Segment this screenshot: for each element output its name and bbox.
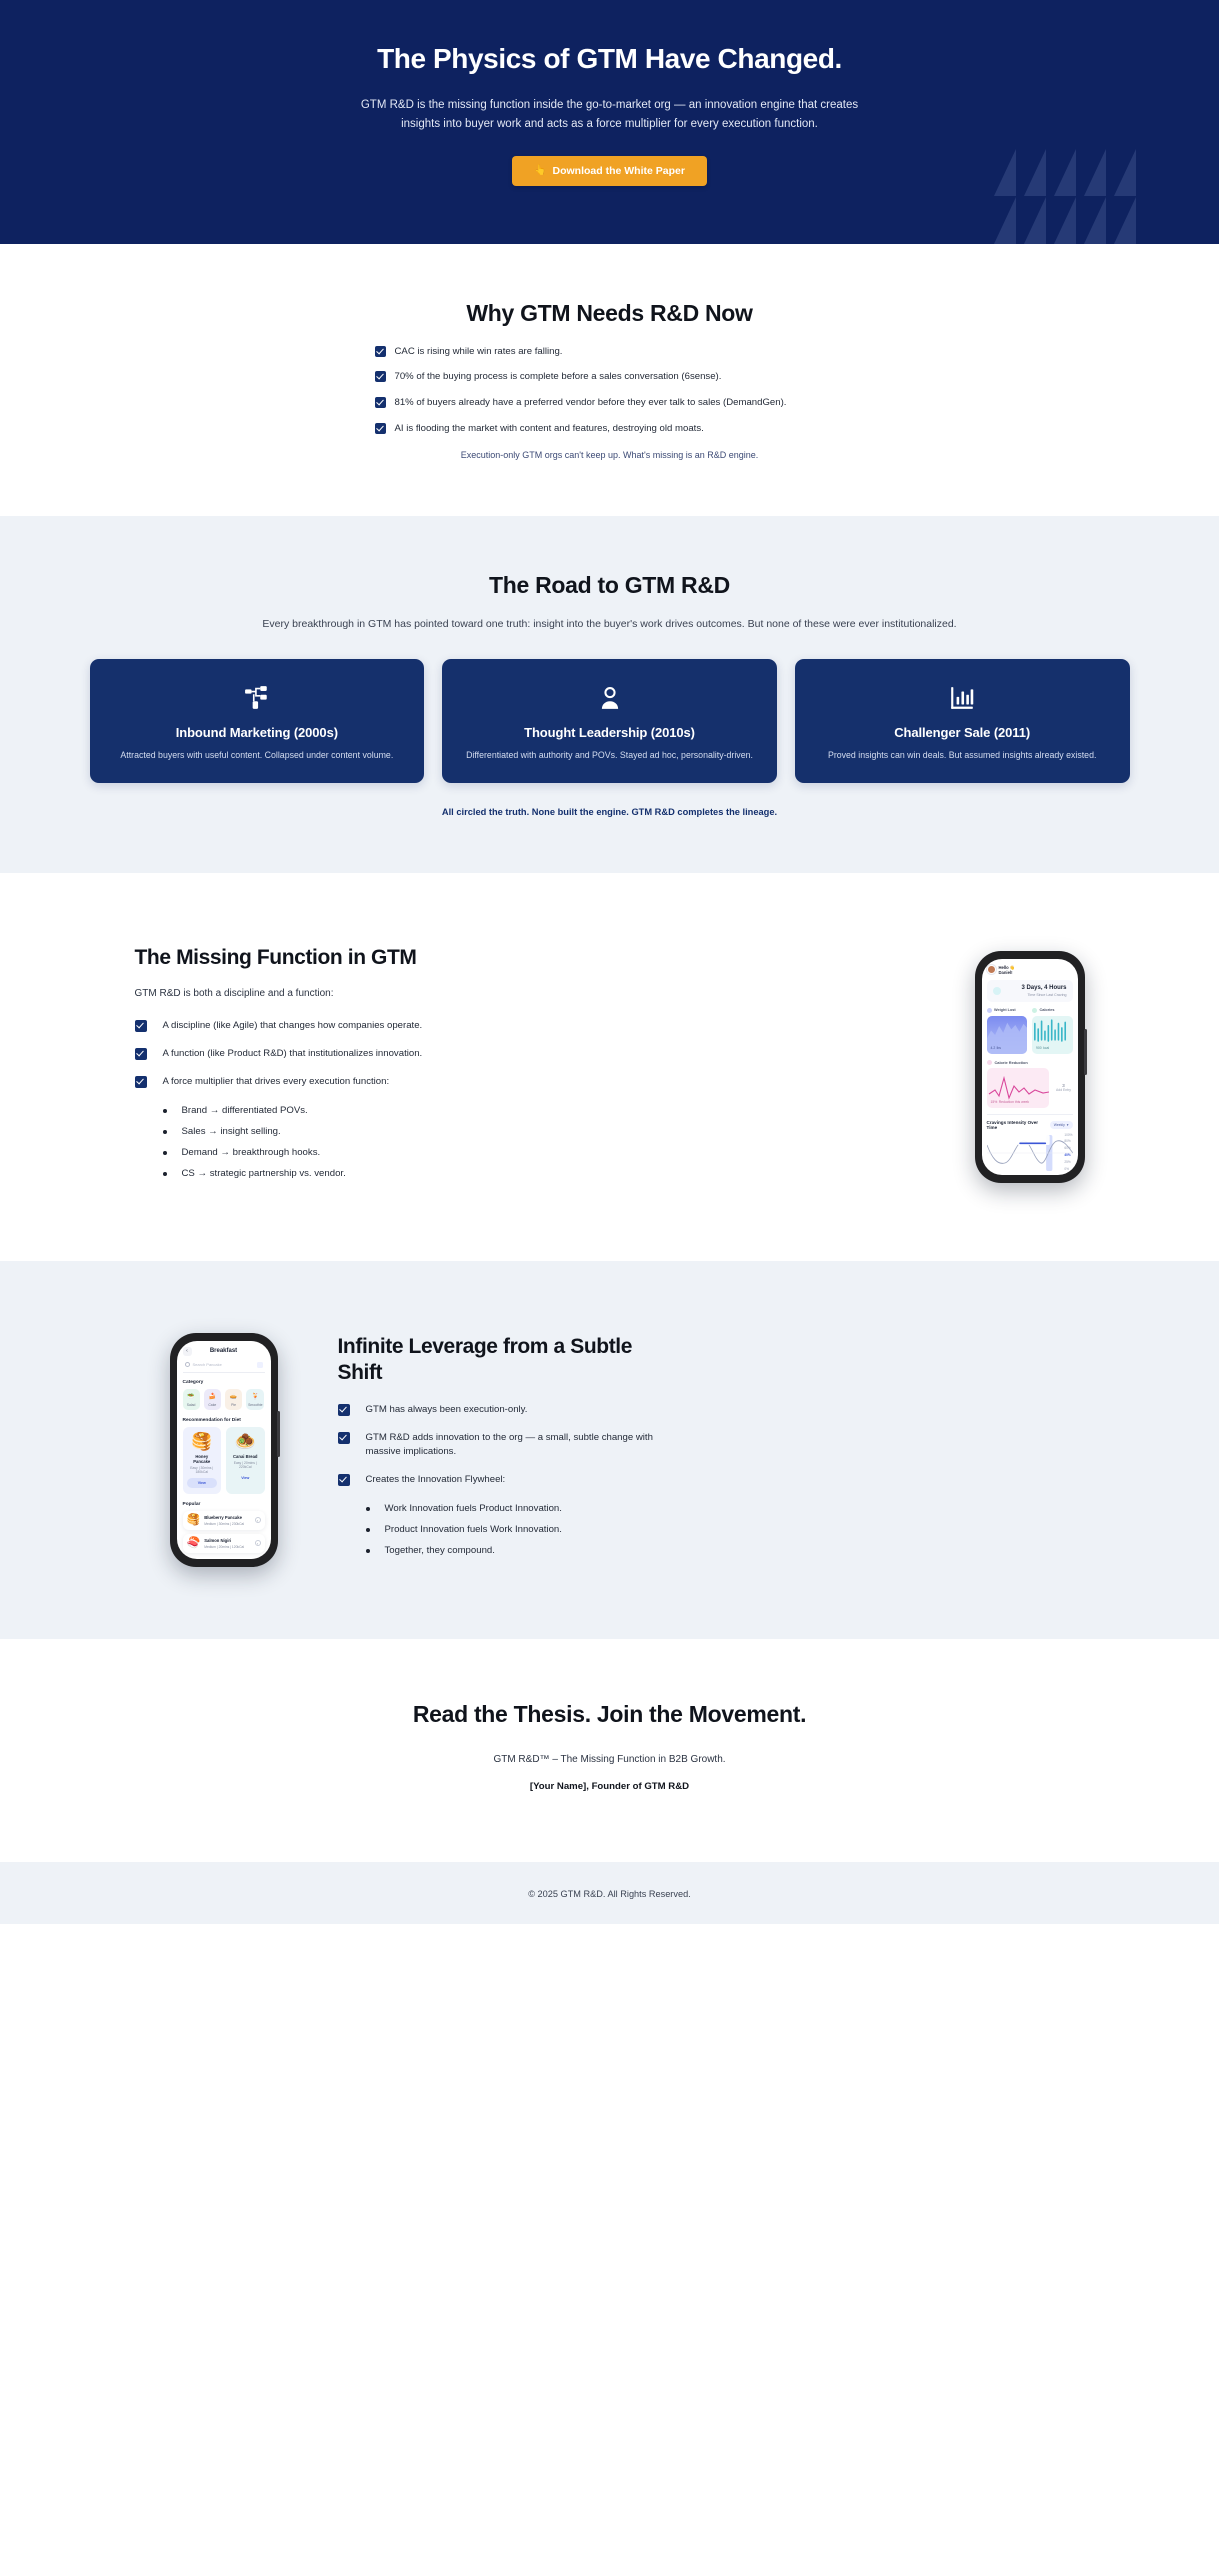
leverage-section: ‹ Breakfast Search Pancake Category <box>0 1261 1219 1639</box>
road-card-title: Thought Leadership (2010s) <box>460 725 759 740</box>
recipe-image: 🧆 <box>230 1433 261 1450</box>
calories-label: Calories <box>1040 1008 1055 1012</box>
search-input[interactable]: Search Pancake <box>193 1362 254 1367</box>
leverage-check-label: Creates the Innovation Flywheel: <box>366 1473 506 1487</box>
road-card-body: Attracted buyers with useful content. Co… <box>108 749 407 763</box>
calorie-reduction-label: Calorie Reduction <box>987 1060 1073 1065</box>
weight-lost-card: Weight Lost 4.2 lbs <box>987 1008 1028 1054</box>
why-section: Why GTM Needs R&D Now CAC is rising whil… <box>0 244 1219 517</box>
recipe-title: Canai Bread <box>230 1454 261 1459</box>
hero-subtitle: GTM R&D is the missing function inside t… <box>360 96 860 134</box>
list-item[interactable]: 🥞 Blueberry Pancake Medium | 30mins | 23… <box>183 1511 265 1530</box>
list-item: Demand → breakthrough hooks. <box>163 1147 935 1158</box>
view-button[interactable]: View <box>230 1473 261 1483</box>
calories-card: Calories <box>1032 1008 1073 1054</box>
leverage-checklist: GTM has always been execution-only. GTM … <box>338 1403 1050 1487</box>
missing-copy: The Missing Function in GTM GTM R&D is b… <box>135 945 935 1189</box>
search-icon <box>185 1362 190 1367</box>
list-item: 70% of the buying process is complete be… <box>375 370 845 384</box>
chevron-right-icon[interactable]: › <box>255 1517 261 1523</box>
checkbox-icon <box>135 1048 147 1060</box>
why-item-label: 70% of the buying process is complete be… <box>395 370 722 384</box>
missing-heading: The Missing Function in GTM <box>135 945 935 971</box>
download-white-paper-button[interactable]: 👆 Download the White Paper <box>512 156 707 186</box>
filter-icon[interactable] <box>257 1362 263 1368</box>
leverage-check-label: GTM has always been execution-only. <box>366 1403 528 1417</box>
road-section: The Road to GTM R&D Every breakthrough i… <box>0 516 1219 872</box>
list-item: Brand → differentiated POVs. <box>163 1105 935 1116</box>
recipe-title: Honey Pancake <box>187 1454 218 1464</box>
closing-tagline: GTM R&D™ – The Missing Function in B2B G… <box>0 1754 1219 1765</box>
missing-check-label: A discipline (like Agile) that changes h… <box>163 1019 423 1033</box>
road-card-body: Proved insights can win deals. But assum… <box>813 749 1112 763</box>
road-card-body: Differentiated with authority and POVs. … <box>460 749 759 763</box>
decorative-triangles <box>994 149 1219 244</box>
category-list: 🥗 Salad 🍰 Cake 🥧 Pie <box>183 1389 265 1410</box>
popular-meta: Medium | 20mins | 120kCal <box>204 1545 250 1549</box>
missing-checklist: A discipline (like Agile) that changes h… <box>135 1019 935 1089</box>
missing-bullet-label: Demand → breakthrough hooks. <box>182 1147 321 1158</box>
leverage-check-label: GTM R&D adds innovation to the org — a s… <box>366 1431 666 1459</box>
why-heading: Why GTM Needs R&D Now <box>90 300 1130 327</box>
recipe-meta: Easy | 20mins | 220kCal <box>230 1461 261 1469</box>
list-item: GTM R&D adds innovation to the org — a s… <box>338 1431 1050 1459</box>
recommendation-list: 🥞 Honey Pancake Easy | 30mins | 180kCal … <box>183 1427 265 1494</box>
bullet-icon <box>163 1130 167 1134</box>
category-heading: Category <box>183 1380 265 1385</box>
list-item[interactable]: 🍣 Salmon Nigiri Medium | 20mins | 120kCa… <box>183 1534 265 1553</box>
cravings-chart-title: Cravings Intensity Over Time <box>987 1120 1050 1130</box>
bullet-icon <box>366 1507 370 1511</box>
missing-check-label: A function (like Product R&D) that insti… <box>163 1047 423 1061</box>
popular-title: Blueberry Pancake <box>204 1515 250 1520</box>
weight-lost-value: 4.2 lbs <box>991 1045 1001 1051</box>
category-label: Pie <box>227 1403 240 1407</box>
leverage-copy: Infinite Leverage from a Subtle Shift GT… <box>318 1334 1050 1566</box>
back-icon[interactable]: ‹ <box>183 1347 192 1356</box>
missing-bullet-label: Sales → insight selling. <box>182 1126 281 1137</box>
ring-caption: Add Entry <box>1056 1088 1071 1092</box>
reduction-icon <box>987 1060 992 1065</box>
road-lede: Every breakthrough in GTM has pointed to… <box>90 617 1130 633</box>
list-item: AI is flooding the market with content a… <box>375 422 845 436</box>
leverage-bullet-label: Product Innovation fuels Work Innovation… <box>385 1524 562 1535</box>
why-item-label: CAC is rising while win rates are fallin… <box>395 345 563 359</box>
road-card-thought-leadership[interactable]: Thought Leadership (2010s) Differentiate… <box>442 659 777 783</box>
checkbox-icon <box>338 1404 350 1416</box>
popular-meta: Medium | 30mins | 230kCal <box>204 1522 250 1526</box>
bullet-icon <box>366 1549 370 1553</box>
list-item: Product Innovation fuels Work Innovation… <box>366 1524 1050 1535</box>
category-item[interactable]: 🥗 Salad <box>183 1389 200 1410</box>
user-icon <box>460 681 759 715</box>
recipe-image: 🥞 <box>187 1433 218 1450</box>
phone-a-greeting: Hello 👋 Daniel! <box>987 965 1073 976</box>
leverage-sub-bullets: Work Innovation fuels Product Innovation… <box>338 1503 1050 1556</box>
streak-card: 3 Days, 4 Hours Time Since Last Craving <box>987 980 1073 1002</box>
category-item[interactable]: 🍹 Smoothie <box>246 1389 264 1410</box>
checkbox-icon <box>338 1432 350 1444</box>
leaf-icon <box>993 987 1001 995</box>
calories-icon <box>1032 1008 1037 1013</box>
popular-heading: Popular <box>183 1502 265 1507</box>
checkbox-icon <box>135 1020 147 1032</box>
sitemap-icon <box>108 681 407 715</box>
road-card-title: Challenger Sale (2011) <box>813 725 1112 740</box>
missing-sub-bullets: Brand → differentiated POVs. Sales → ins… <box>135 1105 935 1179</box>
list-item: CAC is rising while win rates are fallin… <box>375 345 845 359</box>
weekly-select[interactable]: Weekly ▾ <box>1050 1121 1073 1129</box>
missing-intro: GTM R&D is both a discipline and a funct… <box>135 988 935 999</box>
list-item: A force multiplier that drives every exe… <box>135 1075 935 1089</box>
why-item-label: AI is flooding the market with content a… <box>395 422 704 436</box>
hero-section: The Physics of GTM Have Changed. GTM R&D… <box>0 0 1219 244</box>
recipe-meta: Easy | 30mins | 180kCal <box>187 1466 218 1474</box>
recommendation-card[interactable]: 🥞 Honey Pancake Easy | 30mins | 180kCal … <box>183 1427 222 1494</box>
reduction-chart-card: 15% Reduction this week <box>987 1068 1049 1108</box>
road-heading: The Road to GTM R&D <box>90 572 1130 599</box>
bullet-icon <box>163 1172 167 1176</box>
greeting-line-2: Daniel! <box>999 970 1016 975</box>
road-card-list: Inbound Marketing (2000s) Attracted buye… <box>90 659 1130 783</box>
add-entry-ring[interactable]: 3 Add Entry <box>1055 1068 1073 1108</box>
hero-title: The Physics of GTM Have Changed. <box>290 42 930 76</box>
list-item: Sales → insight selling. <box>163 1126 935 1137</box>
bullet-icon <box>163 1151 167 1155</box>
divider <box>987 1114 1073 1115</box>
chevron-down-icon: ▾ <box>1067 1123 1069 1127</box>
closing-heading: Read the Thesis. Join the Movement. <box>0 1701 1219 1728</box>
missing-bullet-label: Brand → differentiated POVs. <box>182 1105 308 1116</box>
list-item: GTM has always been execution-only. <box>338 1403 1050 1417</box>
view-button[interactable]: View <box>187 1478 218 1488</box>
category-icon: 🥗 <box>185 1394 198 1400</box>
list-item: CS → strategic partnership vs. vendor. <box>163 1168 935 1179</box>
why-note: Execution-only GTM orgs can't keep up. W… <box>90 450 1130 460</box>
list-item: Together, they compound. <box>366 1545 1050 1556</box>
chevron-right-icon[interactable]: › <box>255 1540 261 1546</box>
chart-y-labels: 100% 80% 60% 40% 25% 0% <box>1064 1133 1072 1171</box>
weight-icon <box>987 1008 992 1013</box>
weight-lost-label: Weight Lost <box>994 1008 1016 1012</box>
popular-image: 🍣 <box>187 1538 201 1549</box>
why-checklist: CAC is rising while win rates are fallin… <box>375 345 845 437</box>
cravings-chart: 100% 80% 60% 40% 25% 0% Sun Mon <box>987 1133 1073 1175</box>
checkbox-icon <box>375 397 386 408</box>
checkbox-icon <box>375 346 386 357</box>
closing-section: Read the Thesis. Join the Movement. GTM … <box>0 1639 1219 1862</box>
streak-value: 3 Days, 4 Hours <box>1006 985 1067 991</box>
reduction-value: 15% Reduction this week <box>991 1099 1030 1105</box>
list-item: Work Innovation fuels Product Innovation… <box>366 1503 1050 1514</box>
checkbox-icon <box>338 1474 350 1486</box>
recommendation-heading: Recommendation for Diet <box>183 1418 265 1423</box>
list-item: A function (like Product R&D) that insti… <box>135 1047 935 1061</box>
landing-page: The Physics of GTM Have Changed. GTM R&D… <box>0 0 1219 1924</box>
phone-b-title: Breakfast <box>192 1348 256 1354</box>
category-label: Smoothie <box>248 1403 262 1407</box>
why-item-label: 81% of buyers already have a preferred v… <box>395 396 787 410</box>
search-bar[interactable]: Search Pancake <box>183 1362 265 1373</box>
road-note: All circled the truth. None built the en… <box>90 807 1130 817</box>
popular-image: 🥞 <box>187 1515 201 1526</box>
download-icon: 👆 <box>534 165 546 176</box>
bullet-icon <box>366 1528 370 1532</box>
download-button-label: Download the White Paper <box>553 165 685 177</box>
streak-label: Time Since Last Craving <box>1006 993 1067 997</box>
checkbox-icon <box>375 371 386 382</box>
page-footer: © 2025 GTM R&D. All Rights Reserved. <box>0 1862 1219 1924</box>
leverage-bullet-label: Work Innovation fuels Product Innovation… <box>385 1503 562 1514</box>
bullet-icon <box>163 1109 167 1113</box>
checkbox-icon <box>135 1076 147 1088</box>
checkbox-icon <box>375 423 386 434</box>
leverage-heading: Infinite Leverage from a Subtle Shift <box>338 1334 668 1385</box>
list-item: 81% of buyers already have a preferred v… <box>375 396 845 410</box>
phone-mockup-recipes: ‹ Breakfast Search Pancake Category <box>170 1333 278 1567</box>
category-item[interactable]: 🥧 Pie <box>225 1389 242 1410</box>
list-item: Creates the Innovation Flywheel: <box>338 1473 1050 1487</box>
popular-title: Salmon Nigiri <box>204 1538 250 1543</box>
recommendation-card[interactable]: 🧆 Canai Bread Easy | 20mins | 220kCal Vi… <box>226 1427 265 1494</box>
list-item: A discipline (like Agile) that changes h… <box>135 1019 935 1033</box>
cravings-line <box>987 1133 1073 1173</box>
missing-check-label: A force multiplier that drives every exe… <box>163 1075 390 1089</box>
bar-chart-icon <box>813 681 1112 715</box>
category-icon: 🥧 <box>227 1394 240 1400</box>
phone-mockup-dashboard: Hello 👋 Daniel! 3 Days, 4 Hours Time Sin… <box>975 951 1085 1183</box>
road-card-title: Inbound Marketing (2000s) <box>108 725 407 740</box>
road-card-inbound[interactable]: Inbound Marketing (2000s) Attracted buye… <box>90 659 425 783</box>
category-label: Cake <box>206 1403 219 1407</box>
road-card-challenger-sale[interactable]: Challenger Sale (2011) Proved insights c… <box>795 659 1130 783</box>
leverage-bullet-label: Together, they compound. <box>385 1545 495 1556</box>
missing-bullet-label: CS → strategic partnership vs. vendor. <box>182 1168 346 1179</box>
copyright-text: © 2025 GTM R&D. All Rights Reserved. <box>528 1889 691 1899</box>
missing-function-section: The Missing Function in GTM GTM R&D is b… <box>0 873 1219 1261</box>
category-icon: 🍹 <box>248 1394 262 1400</box>
calories-value: 900 kcal <box>1036 1045 1049 1051</box>
avatar <box>987 965 996 974</box>
category-label: Salad <box>185 1403 198 1407</box>
category-item[interactable]: 🍰 Cake <box>204 1389 221 1410</box>
closing-signature: [Your Name], Founder of GTM R&D <box>0 1781 1219 1792</box>
category-icon: 🍰 <box>206 1394 219 1400</box>
